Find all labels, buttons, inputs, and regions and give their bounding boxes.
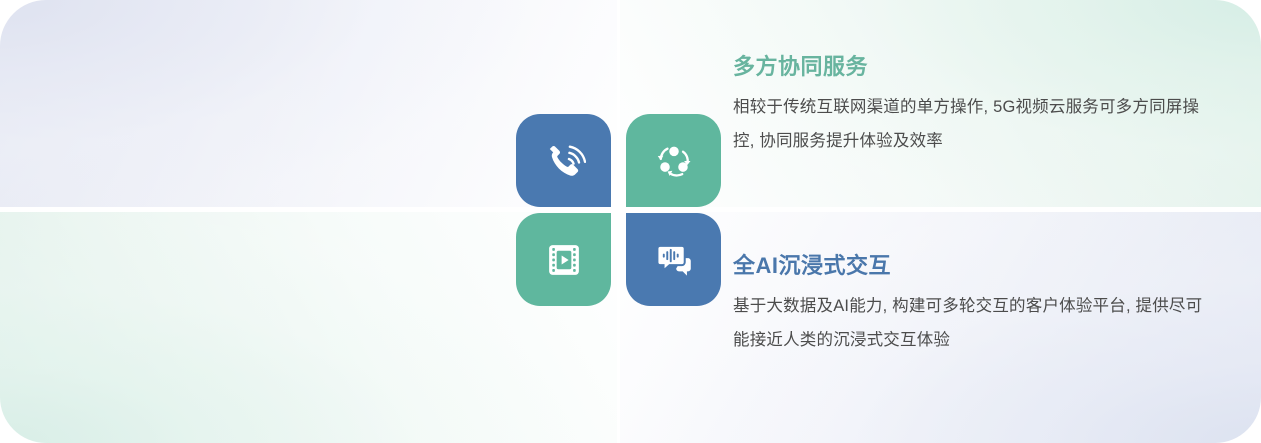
feature-description-full-ai-immersive: 基于大数据及AI能力, 构建可多轮交互的客户体验平台, 提供尽可能接近人类的沉浸… [733, 290, 1203, 358]
feature-quadrant-graphic: 便捷接入 免下载安装, 免登录认证, 只需要拨打电话, 即可享受全面的服务 多方… [0, 0, 1261, 443]
feature-text-multiparty-collaboration: 多方协同服务 相较于传统互联网渠道的单方操作, 5G视频云服务可多方同屏操控, … [733, 54, 1203, 159]
video-film-icon [543, 239, 585, 281]
feature-title-multiparty-collaboration: 多方协同服务 [733, 54, 1203, 80]
feature-text-full-ai-immersive: 全AI沉浸式交互 基于大数据及AI能力, 构建可多轮交互的客户体验平台, 提供尽… [733, 253, 1203, 358]
feature-title-full-ai-immersive: 全AI沉浸式交互 [733, 253, 1203, 279]
feature-description-multiparty-collaboration: 相较于传统互联网渠道的单方操作, 5G视频云服务可多方同屏操控, 协同服务提升体… [733, 91, 1203, 159]
feature-icon-tile-information-multimedia [516, 213, 611, 306]
feature-icon-tile-convenient-access [516, 114, 611, 207]
feature-icon-tile-full-ai-immersive [626, 213, 721, 306]
phone-signal-icon [542, 139, 586, 183]
voice-chat-icon [652, 238, 696, 282]
collaboration-cycle-icon [652, 139, 696, 183]
feature-icon-tile-multiparty-collaboration [626, 114, 721, 207]
